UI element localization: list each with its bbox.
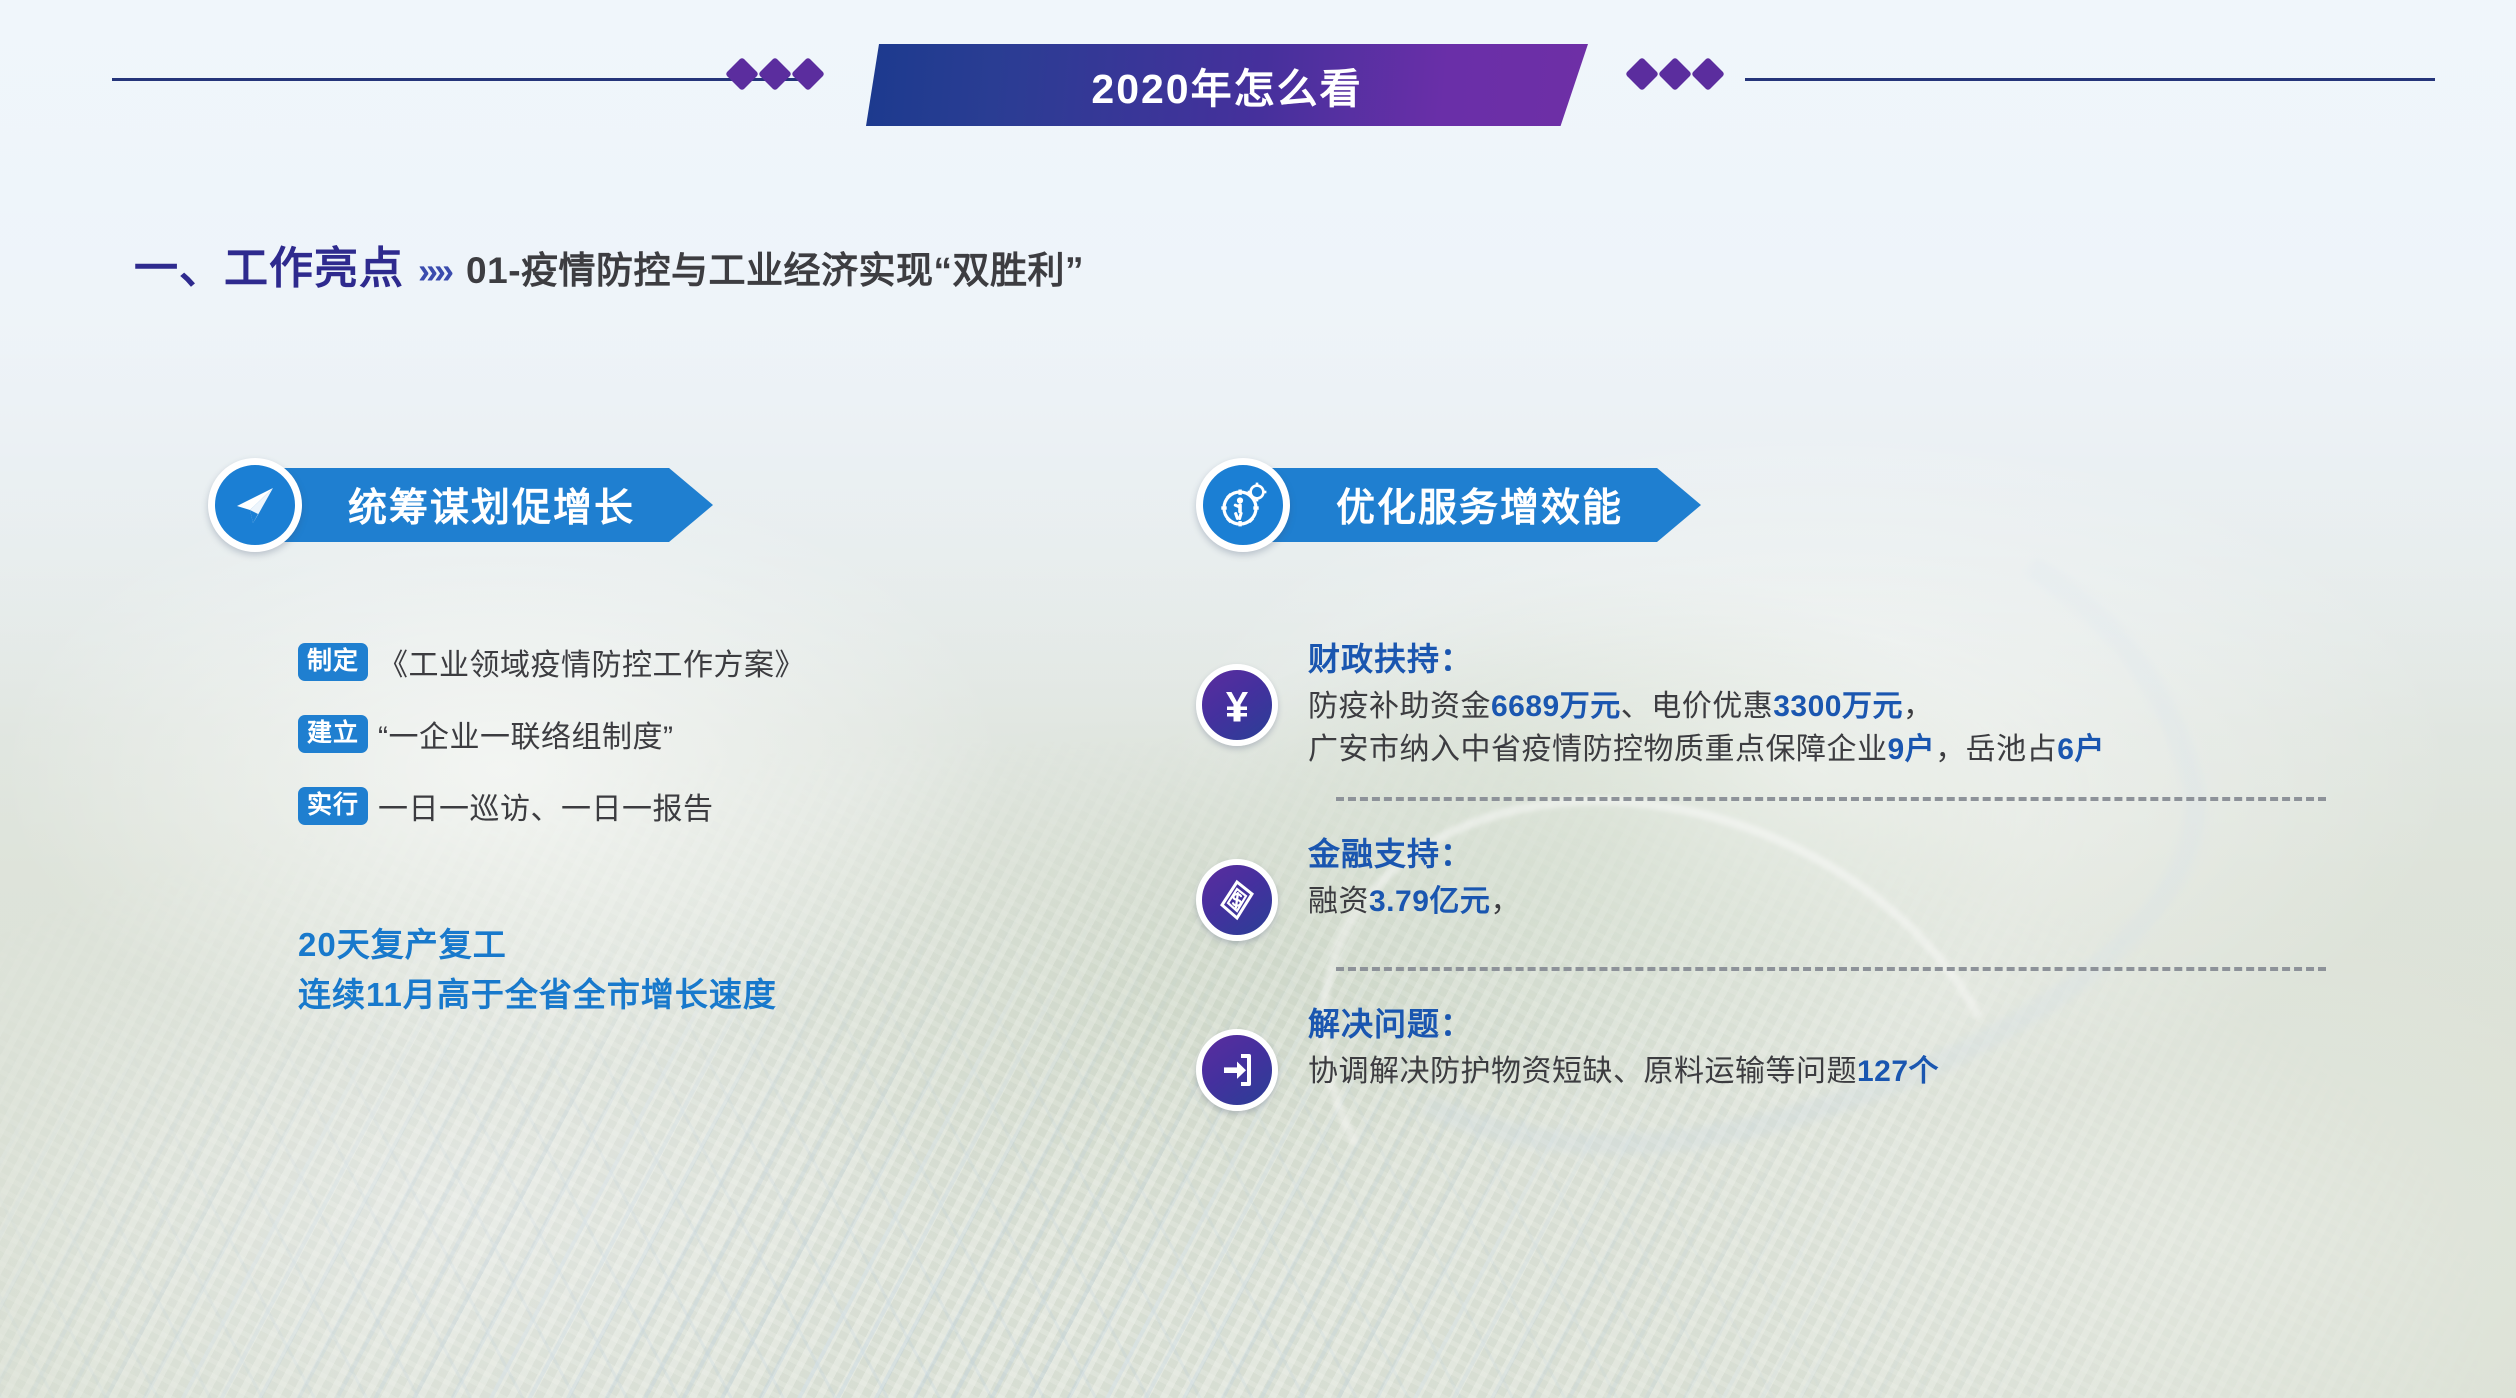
slide-header: 2020年怎么看 <box>0 0 2516 150</box>
list-item: 金融支持： 融资3.79亿元， <box>1196 827 2326 941</box>
column-header-label: 统筹谋划促增长 <box>348 477 635 533</box>
text-run: 防疫补助资金 <box>1308 690 1491 723</box>
list-item-tag: 实行 <box>298 787 368 825</box>
header-diamonds-left <box>730 62 820 86</box>
column-header-banner: 统筹谋划促增长 <box>276 468 713 542</box>
column-header-banner: 优化服务增效能 <box>1264 468 1701 542</box>
header-diamonds-right <box>1630 62 1720 86</box>
gear-worker-icon <box>1196 458 1290 552</box>
header-rule-right <box>1745 78 2435 81</box>
list-item: 财政扶持： 防疫补助资金6689万元、电价优惠3300万元， 广安市纳入中省疫情… <box>1196 632 2326 771</box>
list-item-body: 解决问题： 协调解决防护物资短缺、原料运输等问题127个 <box>1308 997 1939 1094</box>
yen-currency-icon <box>1196 664 1278 746</box>
list-item: 建立 “一企业一联络组制度” <box>298 712 805 756</box>
list-item-body: 金融支持： 融资3.79亿元， <box>1308 827 1521 924</box>
section-title-main: 一、工作亮点 <box>134 232 404 296</box>
highlight-run: 6户 <box>2057 733 2105 766</box>
right-column-list: 财政扶持： 防疫补助资金6689万元、电价优惠3300万元， 广安市纳入中省疫情… <box>1196 632 2326 1111</box>
list-item-heading: 解决问题： <box>1308 999 1939 1045</box>
paper-plane-icon <box>208 458 302 552</box>
list-item-line: 防疫补助资金6689万元、电价优惠3300万元， <box>1308 686 2105 729</box>
left-column-highlight: 20天复产复工 连续11月高于全省全市增长速度 <box>298 920 777 1020</box>
section-divider <box>1336 797 2326 801</box>
diamond-icon <box>1625 57 1659 91</box>
text-run: 广安市纳入中省疫情防控物质重点保障企业 <box>1308 733 1888 766</box>
banknote-dollar-icon <box>1196 859 1278 941</box>
highlight-run: 127个 <box>1857 1055 1939 1088</box>
diamond-icon <box>725 57 759 91</box>
text-run: ， <box>1903 690 1934 723</box>
list-item-tag: 建立 <box>298 715 368 753</box>
header-rule-left <box>112 78 807 81</box>
highlight-line-1: 20天复产复工 <box>298 920 777 970</box>
list-item-heading: 金融支持： <box>1308 829 1521 875</box>
highlight-line-2: 连续11月高于全省全市增长速度 <box>298 970 777 1020</box>
list-item: 解决问题： 协调解决防护物资短缺、原料运输等问题127个 <box>1196 997 2326 1111</box>
exit-arrow-icon <box>1196 1029 1278 1111</box>
diamond-icon <box>758 57 792 91</box>
list-item: 实行 一日一巡访、一日一报告 <box>298 784 805 828</box>
section-title-subtitle: 01-疫情防控与工业经济实现“双胜利” <box>466 240 1084 294</box>
list-item-heading: 财政扶持： <box>1308 634 2105 680</box>
section-title-row: 一、工作亮点 »» 01-疫情防控与工业经济实现“双胜利” <box>134 232 1084 296</box>
diamond-icon <box>791 57 825 91</box>
diamond-icon <box>1691 57 1725 91</box>
list-item: 制定 《工业领域疫情防控工作方案》 <box>298 640 805 684</box>
header-banner: 2020年怎么看 <box>866 44 1588 126</box>
list-item-text: “一企业一联络组制度” <box>378 712 673 756</box>
column-header-planning: 统筹谋划促增长 <box>208 458 713 552</box>
chevron-right-icon: »» <box>418 250 450 292</box>
list-item-text: 一日一巡访、一日一报告 <box>378 784 714 828</box>
list-item-tag: 制定 <box>298 643 368 681</box>
text-run: 协调解决防护物资短缺、原料运输等问题 <box>1308 1055 1857 1088</box>
text-run: 、电价优惠 <box>1621 690 1774 723</box>
text-run: 融资 <box>1308 885 1369 918</box>
column-header-label: 优化服务增效能 <box>1336 477 1623 533</box>
text-run: ，岳池占 <box>1935 733 2057 766</box>
column-header-service: 优化服务增效能 <box>1196 458 1701 552</box>
left-column-list: 制定 《工业领域疫情防控工作方案》 建立 “一企业一联络组制度” 实行 一日一巡… <box>298 640 805 856</box>
highlight-run: 6689万元 <box>1491 690 1621 723</box>
list-item-line: 协调解决防护物资短缺、原料运输等问题127个 <box>1308 1051 1939 1094</box>
highlight-run: 3.79亿元 <box>1369 885 1490 918</box>
list-item-text: 《工业领域疫情防控工作方案》 <box>378 640 805 684</box>
highlight-run: 3300万元 <box>1773 690 1903 723</box>
highlight-run: 9户 <box>1888 733 1936 766</box>
list-item-line: 广安市纳入中省疫情防控物质重点保障企业9户，岳池占6户 <box>1308 729 2105 772</box>
diamond-icon <box>1658 57 1692 91</box>
text-run: ， <box>1490 885 1521 918</box>
header-banner-title: 2020年怎么看 <box>1091 55 1362 115</box>
list-item-body: 财政扶持： 防疫补助资金6689万元、电价优惠3300万元， 广安市纳入中省疫情… <box>1308 632 2105 771</box>
section-divider <box>1336 967 2326 971</box>
list-item-line: 融资3.79亿元， <box>1308 881 1521 924</box>
slide-canvas: 2020年怎么看 一、工作亮点 »» 01-疫情防控与工业经济实现“双胜利” 统… <box>0 0 2516 1398</box>
